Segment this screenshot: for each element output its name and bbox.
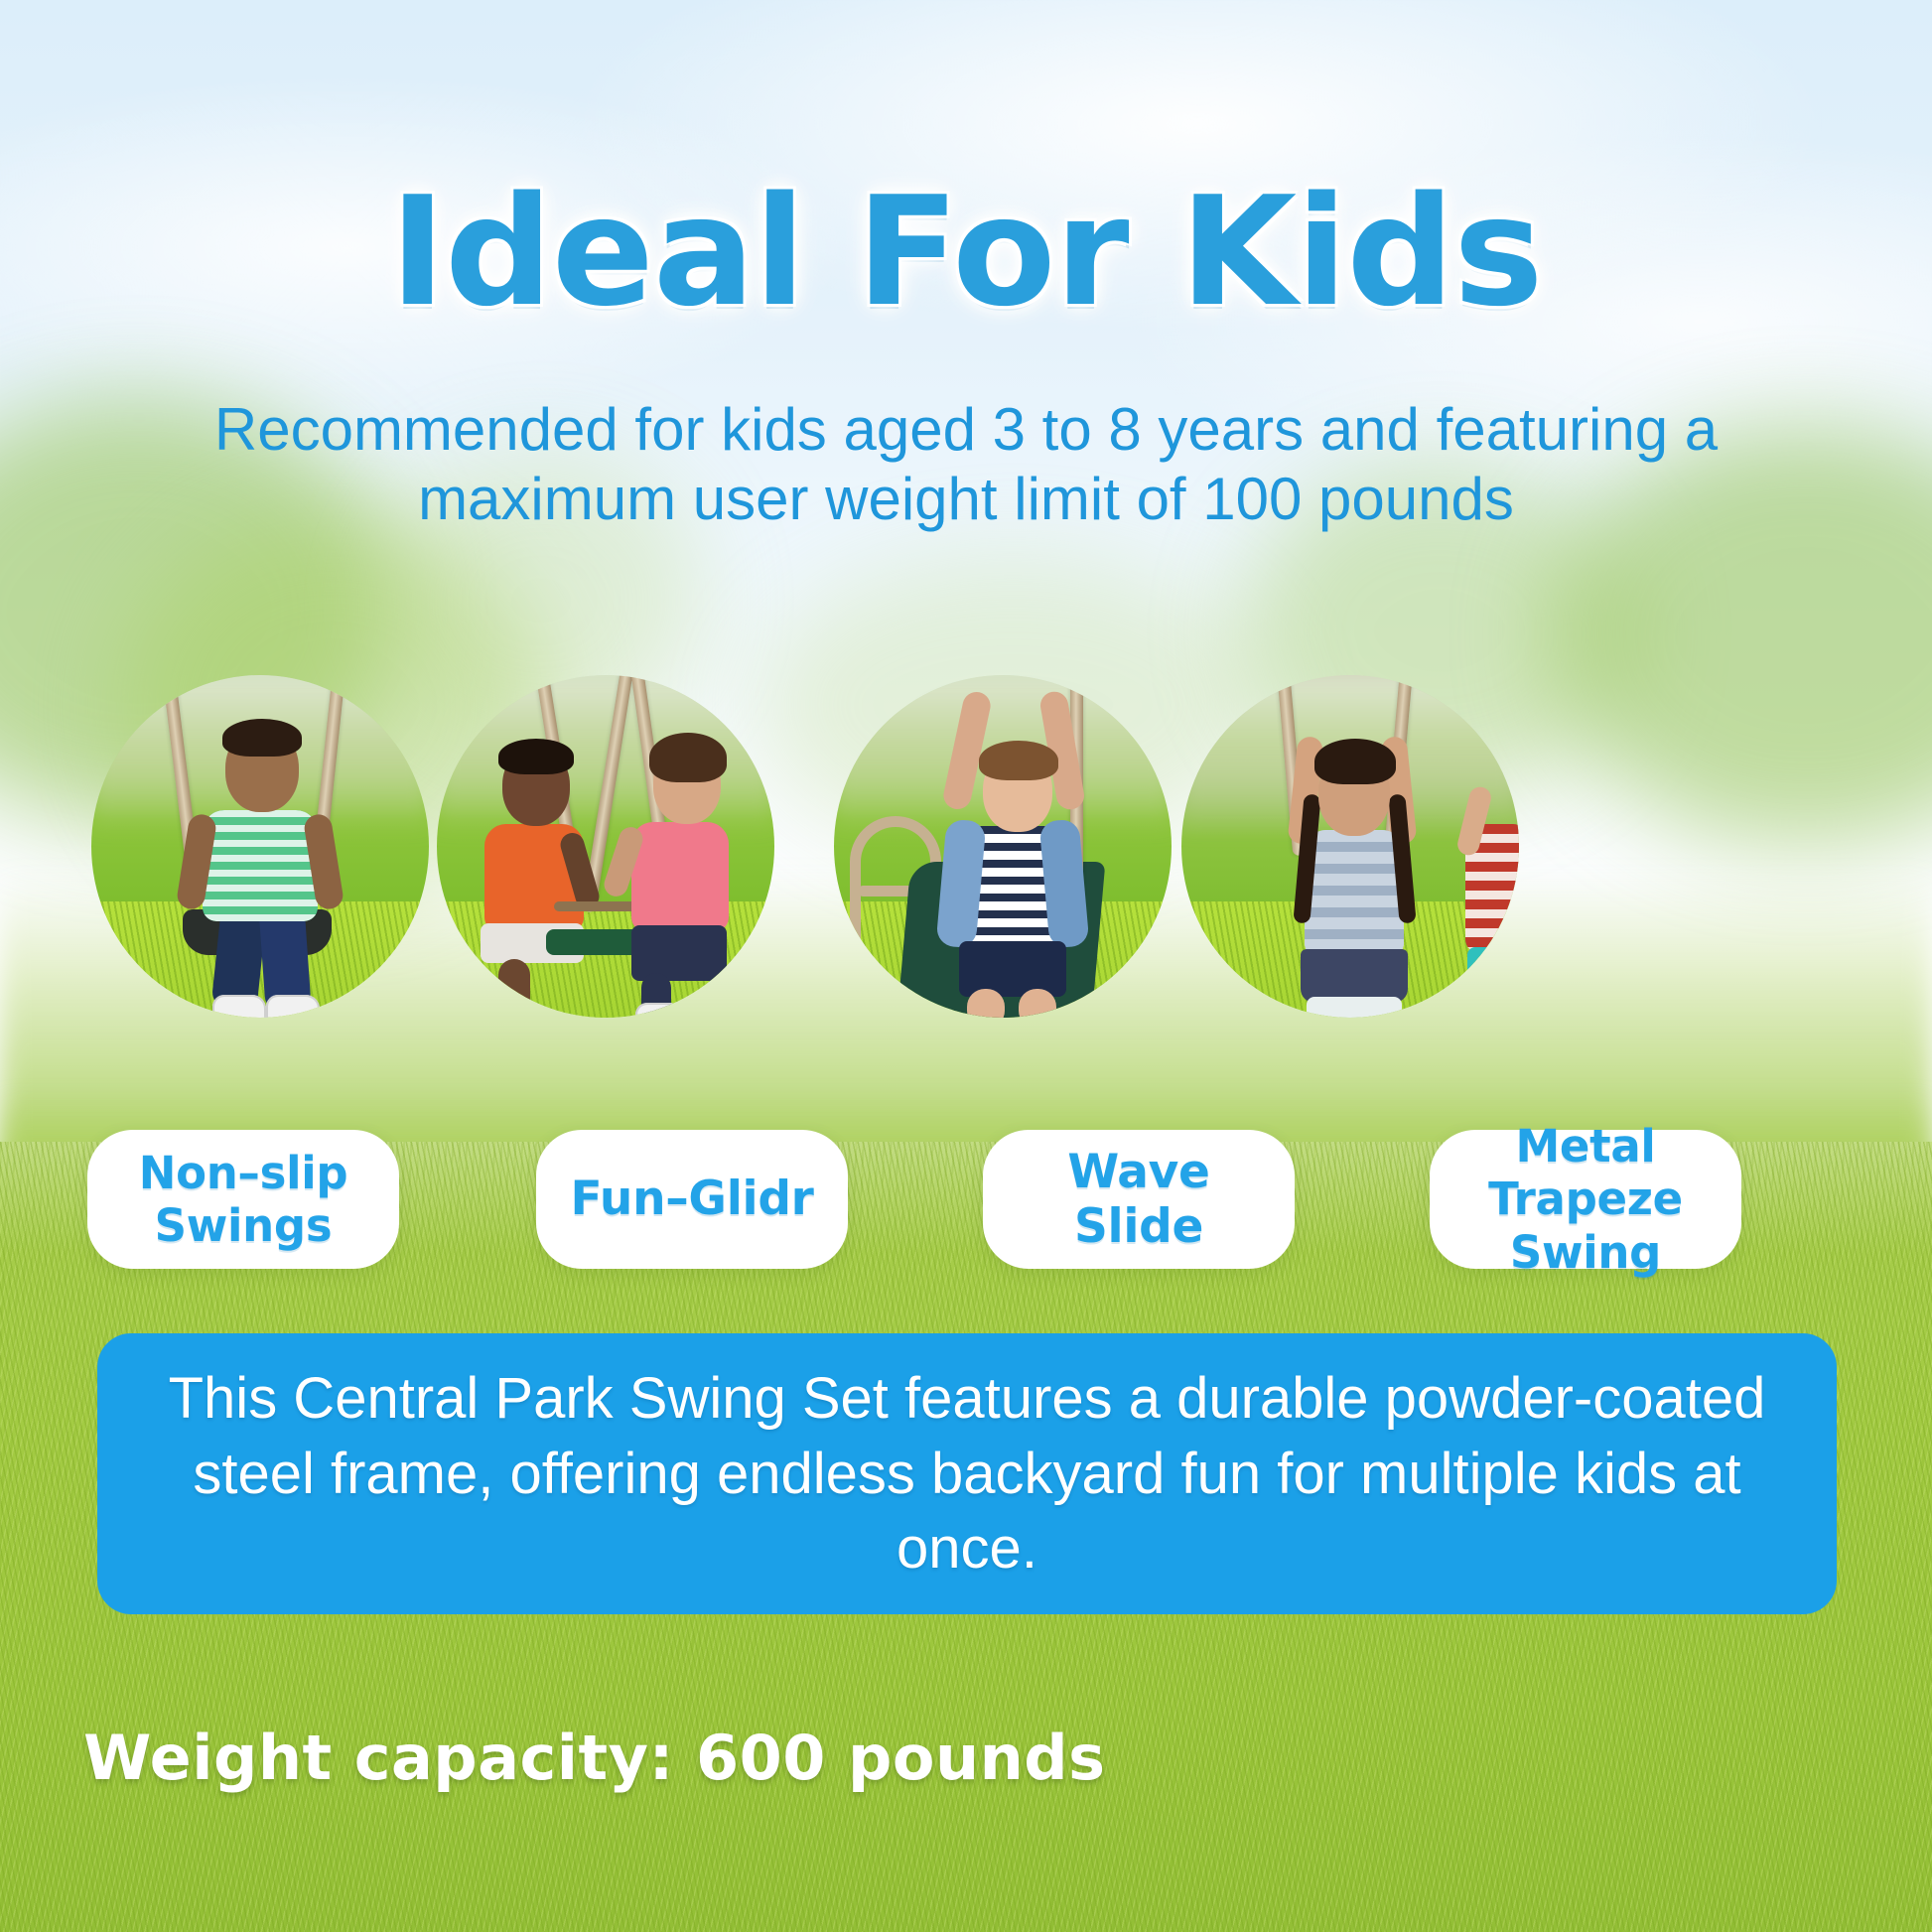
feature-photo-boy-on-nonslip-swing [91, 675, 429, 1018]
weight-capacity-text: Weight capacity: 600 pounds [83, 1722, 1106, 1794]
description-text: This Central Park Swing Set features a d… [157, 1361, 1777, 1586]
feature-label-metal-trapeze-swing[interactable]: Metal Trapeze Swing [1430, 1130, 1741, 1269]
feature-label-text: Wave Slide [1001, 1145, 1277, 1255]
feature-photo-two-girls-on-glider [437, 675, 774, 1018]
feature-photo-row [0, 675, 1932, 1023]
feature-label-wave-slide[interactable]: Wave Slide [983, 1130, 1295, 1269]
feature-photo-boy-on-wave-slide [834, 675, 1172, 1018]
feature-label-fun-glidr[interactable]: Fun–Glidr [536, 1130, 848, 1269]
feature-photo-girl-on-trapeze-swing [1181, 675, 1519, 1018]
page-subtitle: Recommended for kids aged 3 to 8 years a… [132, 395, 1800, 534]
description-banner: This Central Park Swing Set features a d… [97, 1333, 1837, 1614]
feature-label-text: Metal Trapeze Swing [1448, 1120, 1724, 1278]
feature-label-non-slip-swings[interactable]: Non–slip Swings [87, 1130, 399, 1269]
feature-label-text: Fun–Glidr [570, 1172, 813, 1226]
page-title: Ideal For Kids [0, 177, 1932, 328]
feature-label-text: Non–slip Swings [139, 1147, 348, 1252]
